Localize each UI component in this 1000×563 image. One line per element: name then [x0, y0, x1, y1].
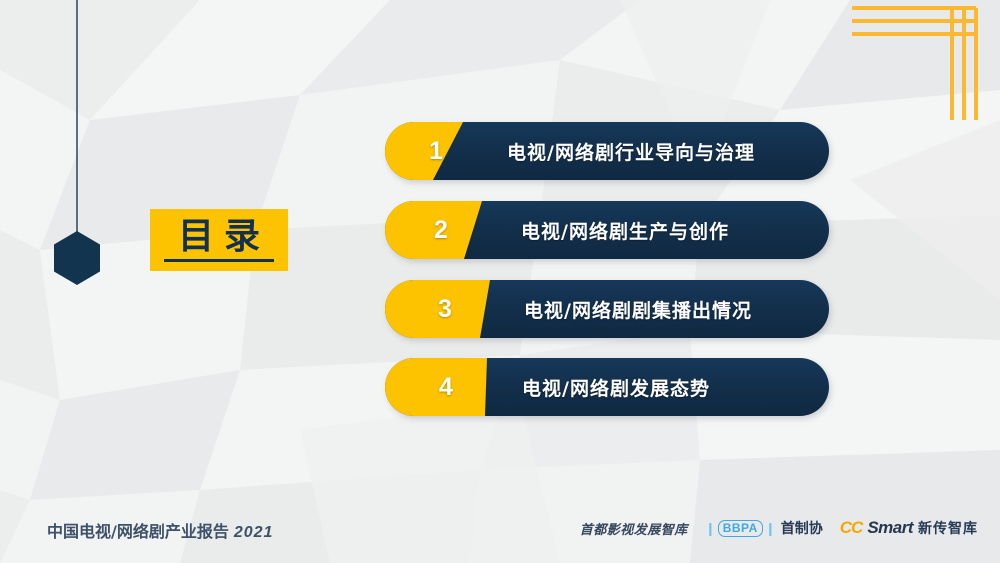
bbpa-mark-icon: ❙ BBPA ❙: [705, 520, 776, 537]
ccsmart-name: 新传智库: [918, 518, 978, 538]
contents-item-2[interactable]: 2 电视/网络剧生产与创作: [385, 201, 829, 259]
logo-bbpa: ❙ BBPA ❙ 首制协: [705, 518, 823, 538]
footer-logos: 首都影视发展智库 ❙ BBPA ❙ 首制协 CCSmart 新传智库: [580, 516, 978, 540]
contents-item-1[interactable]: 1 电视/网络剧行业导向与治理: [385, 122, 829, 180]
bbpa-left-tick-icon: ❙: [705, 522, 716, 535]
report-title-text: 中国电视/网络剧产业报告: [47, 522, 229, 541]
item-label: 电视/网络剧剧集播出情况: [524, 280, 752, 338]
item-label: 电视/网络剧发展态势: [522, 358, 710, 416]
ccsmart-cc: CC: [840, 518, 863, 538]
contents-item-3[interactable]: 3 电视/网络剧剧集播出情况: [385, 280, 829, 338]
item-label: 电视/网络剧生产与创作: [521, 201, 729, 259]
presentation-slide: 目录 1 电视/网络剧行业导向与治理 2: [0, 0, 1000, 563]
bbpa-acronym: BBPA: [718, 520, 763, 537]
item-number: 3: [410, 280, 480, 338]
item-number: 1: [401, 122, 471, 180]
footer-report-title: 中国电视/网络剧产业报告2021: [47, 518, 273, 542]
bbpa-name: 首制协: [781, 518, 823, 538]
logo-think-tank: 首都影视发展智库: [580, 519, 688, 538]
contents-list: 1 电视/网络剧行业导向与治理 2 电视/网络剧生产与创作: [0, 0, 1000, 563]
item-number: 2: [406, 201, 476, 259]
contents-item-4[interactable]: 4 电视/网络剧发展态势: [385, 358, 829, 416]
logo-ccsmart: CCSmart 新传智库: [840, 518, 978, 538]
bbpa-right-tick-icon: ❙: [765, 522, 776, 535]
item-label: 电视/网络剧行业导向与治理: [507, 122, 755, 180]
item-number: 4: [411, 358, 481, 416]
ccsmart-smart: Smart: [867, 518, 913, 538]
report-year: 2021: [234, 524, 274, 541]
